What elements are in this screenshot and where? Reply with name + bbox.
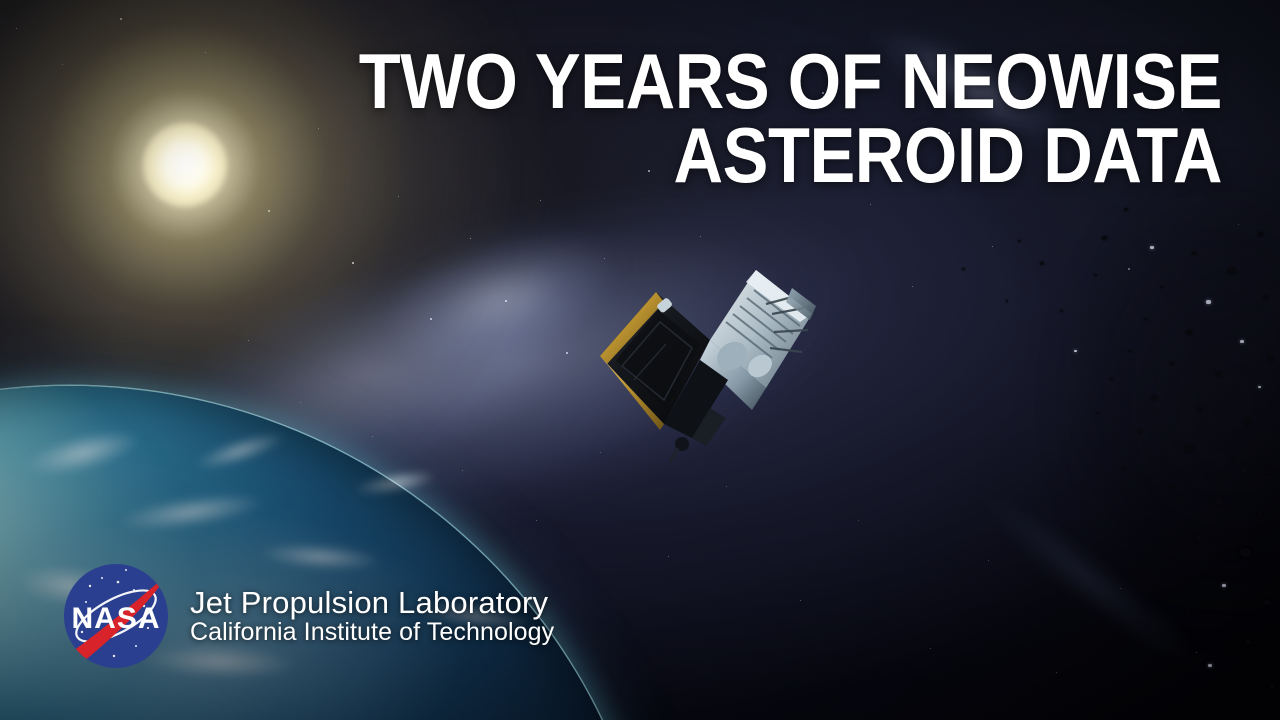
neowise-spacecraft: [560, 248, 820, 463]
nasa-logo-wordmark: NASA: [71, 602, 160, 635]
title-block: TWO YEARS OF NEOWISE ASTEROID DATA: [241, 44, 1222, 192]
jpl-line-2: California Institute of Technology: [190, 619, 554, 646]
title-line-2: ASTEROID DATA: [359, 118, 1222, 192]
star: [800, 600, 801, 601]
nasa-meatball-logo: NASA: [56, 556, 176, 676]
asteroid-field-haze: [900, 150, 1280, 710]
star: [858, 520, 859, 521]
title-card-scene: TWO YEARS OF NEOWISE ASTEROID DATA: [0, 0, 1280, 720]
star: [668, 556, 669, 557]
title-line-1: TWO YEARS OF NEOWISE: [359, 44, 1222, 118]
jpl-line-1: Jet Propulsion Laboratory: [190, 586, 554, 619]
jpl-lockup: NASA Jet Propulsion Laboratory Californi…: [56, 556, 554, 676]
sun-core: [143, 123, 227, 207]
jpl-wordmark: Jet Propulsion Laboratory California Ins…: [190, 586, 554, 646]
